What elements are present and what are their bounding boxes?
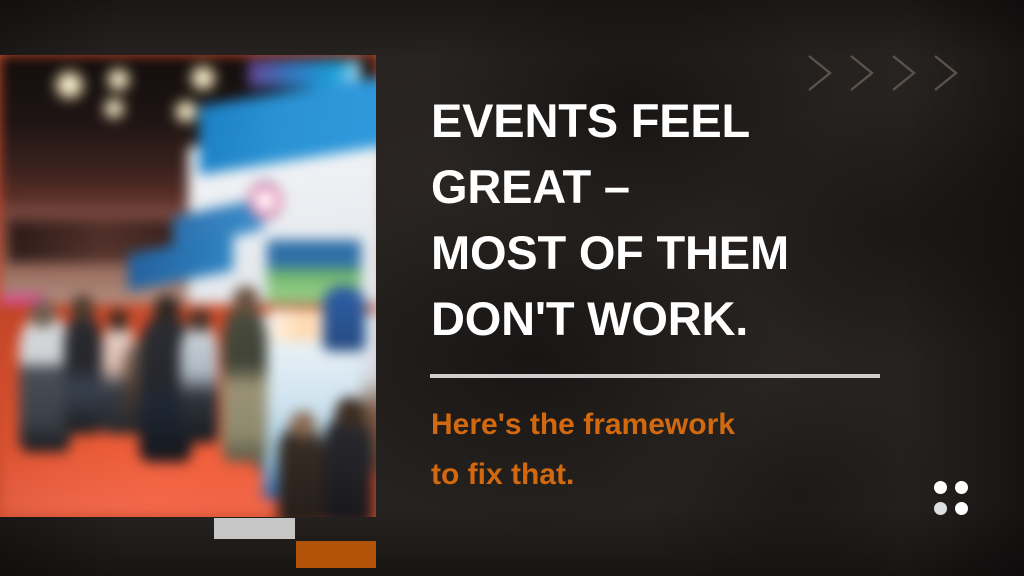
photo-person <box>180 323 218 443</box>
photo-person <box>222 304 267 461</box>
photo-person-head <box>233 286 259 314</box>
dot-grid-icon <box>934 502 947 515</box>
chevron-decoration <box>806 52 966 94</box>
accent-block-orange <box>296 541 376 568</box>
headline-line-3: MOST OF THEM <box>431 220 901 286</box>
divider-rule <box>430 374 880 378</box>
subtitle-line-2: to fix that. <box>431 450 871 500</box>
photo-spotlight <box>102 97 126 120</box>
photo-person-head <box>30 300 56 328</box>
subtitle-line-1: Here's the framework <box>431 400 871 450</box>
photo-content <box>0 55 376 517</box>
headline-line-2: GREAT – <box>431 154 901 220</box>
dot-grid-icon <box>934 481 947 494</box>
dot-grid-icon <box>955 502 968 515</box>
photo-person-head <box>109 309 128 332</box>
page-title: EVENTS FEEL GREAT – MOST OF THEM DON'T W… <box>431 88 901 352</box>
trade-show-exhibition-hall-photo <box>0 55 376 517</box>
photo-person <box>278 425 323 517</box>
photo-person <box>323 286 364 351</box>
accent-block-gray <box>214 518 295 539</box>
photo-person <box>64 314 102 434</box>
chevron-right-icon <box>806 52 966 94</box>
photo-person-head <box>188 309 211 332</box>
dot-grid-decoration <box>934 481 968 515</box>
presentation-slide: EVENTS FEEL GREAT – MOST OF THEM DON'T W… <box>0 0 1024 576</box>
photo-spotlight <box>188 64 218 92</box>
photo-person <box>323 415 372 517</box>
headline-line-4: DON'T WORK. <box>431 286 901 352</box>
photo-booth-logo <box>248 180 282 222</box>
photo-person-head <box>71 295 94 320</box>
photo-person-head <box>290 411 316 439</box>
dot-grid-icon <box>955 481 968 494</box>
subtitle: Here's the framework to fix that. <box>431 400 871 500</box>
headline-line-1: EVENTS FEEL <box>431 88 901 154</box>
photo-person-head <box>335 397 365 429</box>
photo-spotlight <box>105 67 131 92</box>
